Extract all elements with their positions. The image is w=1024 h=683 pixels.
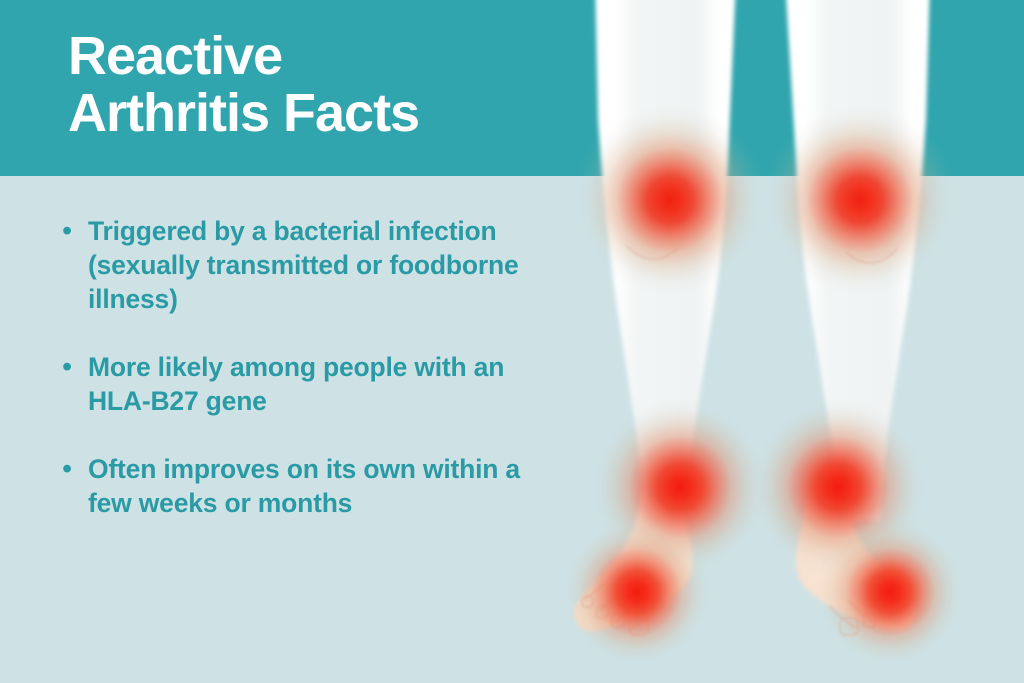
left-foot-shape: [574, 492, 692, 631]
bullet-marker-icon: •: [62, 350, 88, 384]
facts-list: • Triggered by a bacterial infection (se…: [62, 214, 562, 554]
list-item: • Often improves on its own within a few…: [62, 452, 562, 520]
text-column: Reactive Arthritis Facts • Triggered by …: [0, 0, 575, 683]
fact-text: Triggered by a bacterial infection (sexu…: [88, 214, 562, 316]
page-title: Reactive Arthritis Facts: [68, 28, 558, 141]
infographic-reactive-arthritis-facts: Reactive Arthritis Facts • Triggered by …: [0, 0, 1024, 683]
bullet-marker-icon: •: [62, 214, 88, 248]
legs-illustration: [560, 0, 1024, 683]
list-item: • More likely among people with an HLA-B…: [62, 350, 562, 418]
left-leg-shape: [595, 0, 736, 520]
list-item: • Triggered by a bacterial infection (se…: [62, 214, 562, 316]
fact-text: Often improves on its own within a few w…: [88, 452, 562, 520]
fact-text: More likely among people with an HLA-B27…: [88, 350, 562, 418]
bullet-marker-icon: •: [62, 452, 88, 486]
